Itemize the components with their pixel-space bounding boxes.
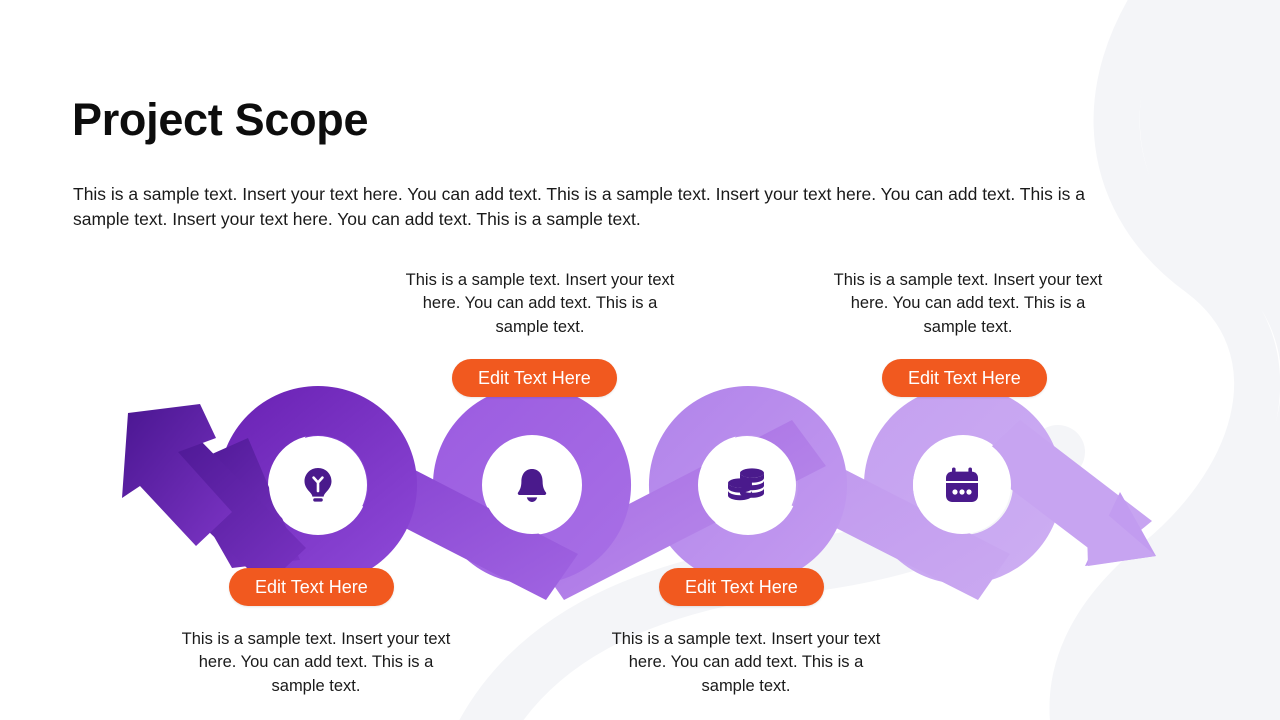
node-circle-calendar — [913, 436, 1011, 534]
bell-icon — [514, 466, 550, 504]
caption-step-1: This is a sample text. Insert your text … — [178, 628, 454, 698]
caption-step-3: This is a sample text. Insert your text … — [608, 628, 884, 698]
node-circle-lightbulb — [269, 436, 367, 534]
edit-text-button-4[interactable]: Edit Text Here — [882, 359, 1047, 397]
zigzag-ribbon-arrow — [0, 0, 1280, 720]
caption-step-4: This is a sample text. Insert your text … — [830, 269, 1106, 339]
edit-text-button-1[interactable]: Edit Text Here — [229, 568, 394, 606]
coins-icon — [727, 466, 767, 504]
slide-canvas: Project Scope This is a sample text. Ins… — [0, 0, 1280, 720]
node-circle-bell — [483, 436, 581, 534]
edit-text-button-2[interactable]: Edit Text Here — [452, 359, 617, 397]
lightbulb-icon — [300, 466, 336, 504]
edit-text-button-3[interactable]: Edit Text Here — [659, 568, 824, 606]
caption-step-2: This is a sample text. Insert your text … — [402, 269, 678, 339]
node-circle-coins — [698, 436, 796, 534]
calendar-icon — [943, 466, 981, 504]
